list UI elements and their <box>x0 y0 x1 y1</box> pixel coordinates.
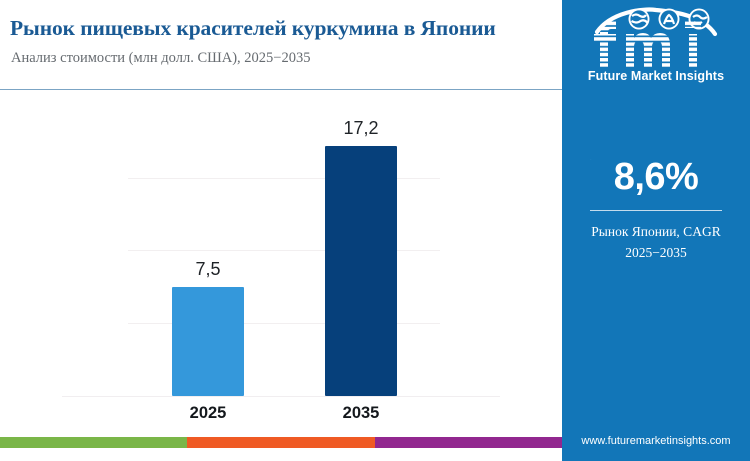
fmi-logo[interactable]: Future Market Insights <box>562 6 750 83</box>
fmi-letters <box>594 21 701 68</box>
cagr-period: 2025−2035 <box>562 243 750 264</box>
cagr-caption: Рынок Японии, CAGR <box>562 222 750 243</box>
cagr-value: 8,6% <box>562 158 750 196</box>
bar-chart: 7,5 17,2 2025 2035 <box>0 92 562 448</box>
header-divider <box>0 89 562 90</box>
main-content-pane: Рынок пищевых красителей куркумина в Япо… <box>0 0 562 448</box>
fmi-logo-icon <box>581 6 731 68</box>
category-label-2025: 2025 <box>172 404 244 423</box>
strip-segment-green <box>0 437 187 448</box>
category-label-2035: 2035 <box>325 404 397 423</box>
infographic-root: Рынок пищевых красителей куркумина в Япо… <box>0 0 750 461</box>
cagr-divider <box>590 210 722 211</box>
bar-value-2035: 17,2 <box>325 118 397 139</box>
page-title: Рынок пищевых красителей куркумина в Япо… <box>10 16 555 41</box>
brand-sidebar: Future Market Insights 8,6% Рынок Японии… <box>562 0 750 461</box>
fmi-wordmark: Future Market Insights <box>562 69 750 83</box>
bar-2035 <box>325 146 397 396</box>
website-url[interactable]: www.futuremarketinsights.com <box>562 435 750 447</box>
strip-segment-purple <box>375 437 562 448</box>
axis-baseline <box>62 396 500 397</box>
strip-segment-orange <box>187 437 374 448</box>
cagr-callout: 8,6% Рынок Японии, CAGR 2025−2035 <box>562 158 750 264</box>
footer-color-strip <box>0 437 562 448</box>
page-subtitle: Анализ стоимости (млн долл. США), 2025−2… <box>11 50 556 67</box>
bar-value-2025: 7,5 <box>172 259 244 280</box>
bar-2025 <box>172 287 244 396</box>
